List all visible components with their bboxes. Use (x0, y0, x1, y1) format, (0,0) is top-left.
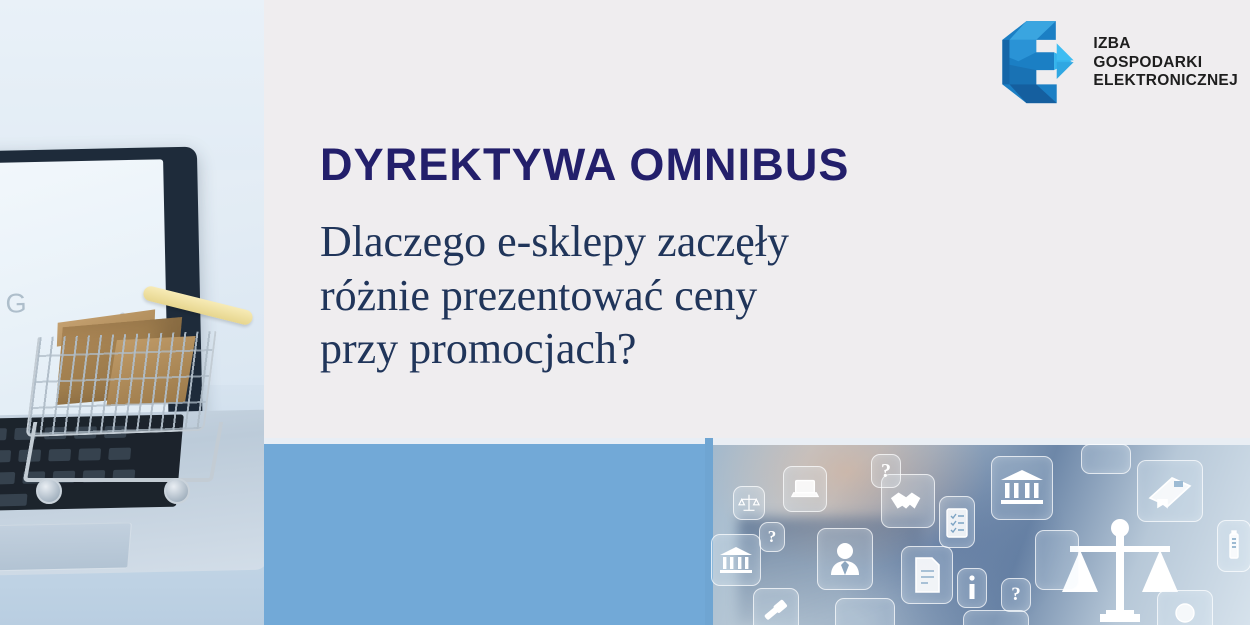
book-icon (1137, 460, 1203, 522)
cart-wheel-rear (164, 478, 190, 504)
question-mark-icon-3: ? (1001, 578, 1031, 612)
logo[interactable]: IZBA GOSPODARKI ELEKTRONICZNEJ (997, 18, 1238, 108)
logo-line-3: ELEKTRONICZNEJ (1093, 72, 1238, 91)
cart-frame (23, 422, 224, 482)
izba-e-logo-icon (997, 18, 1079, 108)
blank-card-1 (835, 598, 895, 625)
person-icon (817, 528, 873, 590)
logo-line-2: GOSPODARKI (1093, 54, 1238, 73)
logo-text: IZBA GOSPODARKI ELEKTRONICZNEJ (1093, 35, 1238, 91)
scales-small-icon (733, 486, 765, 520)
photo-shopping-laptop: HOPPING (0, 0, 264, 625)
page-subtitle: Dlaczego e-sklepy zaczęły różnie prezent… (320, 215, 980, 376)
courthouse-icon (991, 456, 1053, 520)
document-icon (901, 546, 953, 604)
photo-left-blue-strip (705, 438, 713, 625)
accent-blue-block (264, 444, 705, 625)
blank-card-2 (1035, 530, 1079, 590)
cart-wheel-front (36, 478, 62, 504)
blank-card-4 (1081, 444, 1131, 474)
battery-icon (1217, 520, 1250, 572)
photo-top-edge (705, 438, 1250, 445)
document-card-icon (1157, 590, 1213, 625)
logo-line-1: IZBA (1093, 35, 1238, 54)
bank-icon (711, 534, 761, 586)
blank-card-3 (963, 610, 1029, 625)
headline-block: DYREKTYWA OMNIBUS Dlaczego e-sklepy zacz… (320, 139, 980, 376)
gavel-icon (753, 588, 799, 625)
laptop-icon (783, 466, 827, 512)
clipboard-icon (939, 496, 975, 548)
photo-legal-icons: ? (705, 438, 1250, 625)
page-title: DYREKTYWA OMNIBUS (320, 139, 980, 191)
omnibus-directive-banner: HOPPING (0, 0, 1250, 625)
photo-background-wall (0, 0, 264, 170)
question-mark-icon-2: ? (871, 454, 901, 488)
shopping-cart-icon (22, 282, 252, 532)
info-icon (957, 568, 987, 608)
question-mark-icon: ? (759, 522, 785, 552)
